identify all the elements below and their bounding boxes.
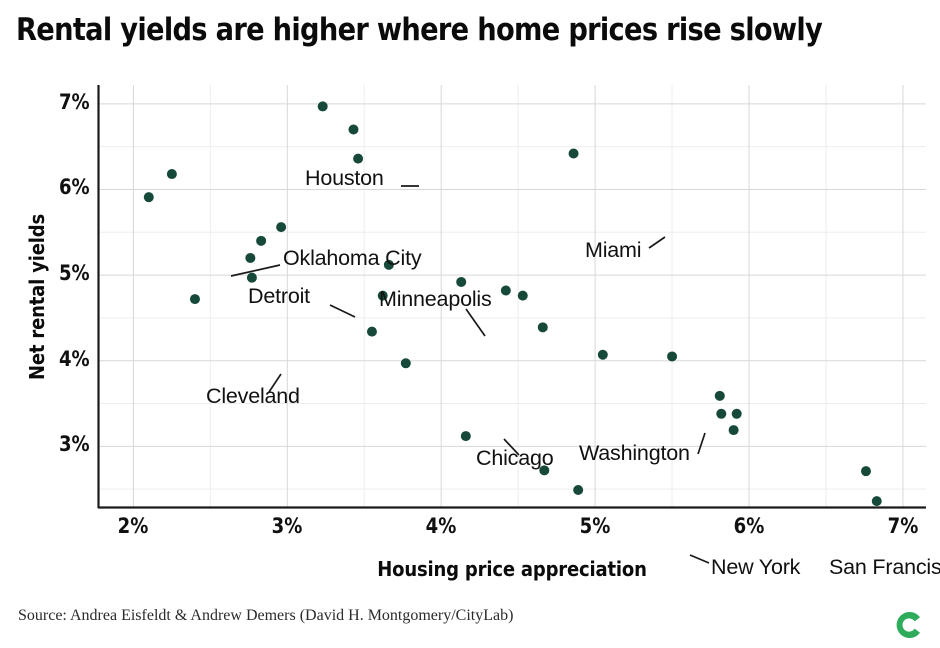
- data-point-miami: [569, 149, 579, 159]
- data-point-houston: [318, 101, 328, 111]
- point-label-minneapolis: Minneapolis: [379, 287, 492, 312]
- scatter-plot-svg: [98, 85, 926, 508]
- x-axis-tick-labels: 2%3%4%5%6%7%: [98, 514, 926, 544]
- data-point: [367, 327, 377, 337]
- y-tick-label: 6%: [59, 175, 90, 199]
- y-tick-label: 5%: [59, 261, 90, 285]
- x-tick-label: 6%: [734, 514, 765, 538]
- point-label-detroit: Detroit: [248, 284, 310, 309]
- data-point: [245, 253, 255, 263]
- point-label-new-york: New York: [711, 555, 800, 580]
- point-label-oklahoma-city: Oklahoma City: [283, 246, 421, 271]
- data-point-washington: [598, 350, 608, 360]
- y-tick-label: 7%: [59, 90, 90, 114]
- data-point-cleveland: [190, 294, 200, 304]
- data-point: [715, 391, 725, 401]
- citylab-c-logo: [890, 608, 924, 642]
- data-point: [538, 322, 548, 332]
- data-point: [501, 286, 511, 296]
- leader-line-minneapolis: [466, 309, 485, 336]
- leader-line-detroit: [330, 305, 355, 317]
- point-label-washington: Washington: [579, 441, 690, 466]
- data-point: [348, 125, 358, 135]
- data-point: [461, 431, 471, 441]
- data-point: [861, 466, 871, 476]
- leader-line-miami: [649, 237, 665, 248]
- x-tick-label: 2%: [118, 514, 149, 538]
- axis-spines: [98, 85, 926, 508]
- data-point-chicago: [401, 358, 411, 368]
- data-point: [667, 351, 677, 361]
- point-label-houston: Houston: [305, 166, 384, 191]
- x-tick-label: 4%: [426, 514, 457, 538]
- data-point: [353, 154, 363, 164]
- x-tick-label: 3%: [272, 514, 303, 538]
- y-tick-label: 3%: [59, 432, 90, 456]
- x-tick-label: 5%: [580, 514, 611, 538]
- data-point: [518, 291, 528, 301]
- point-label-cleveland: Cleveland: [206, 384, 300, 409]
- point-label-san-francisco: San Francisco: [829, 555, 940, 580]
- data-point: [167, 169, 177, 179]
- grid-minor-lines: [98, 85, 926, 508]
- source-note: Source: Andrea Eisfeldt & Andrew Demers …: [18, 607, 513, 625]
- data-point: [247, 273, 257, 283]
- x-tick-label: 7%: [888, 514, 919, 538]
- point-label-chicago: Chicago: [476, 446, 553, 471]
- chart-page: Rental yields are higher where home pric…: [0, 0, 940, 648]
- y-axis-title: Net rental yields: [25, 207, 49, 387]
- data-point: [732, 409, 742, 419]
- data-point: [716, 409, 726, 419]
- data-point-detroit: [256, 236, 266, 246]
- page-title: Rental yields are higher where home pric…: [16, 14, 817, 47]
- data-point-new-york: [573, 485, 583, 495]
- point-label-miami: Miami: [585, 238, 641, 263]
- data-point-oklahoma-city: [144, 192, 154, 202]
- grid-major-lines: [98, 85, 926, 508]
- data-point: [456, 277, 466, 287]
- scatter-plot-area: HoustonOklahoma CityDetroitMinneapolisCl…: [98, 85, 926, 508]
- y-tick-label: 4%: [59, 347, 90, 371]
- leader-line-washington: [698, 433, 705, 454]
- data-point: [729, 425, 739, 435]
- data-point-san-francisco: [872, 496, 882, 506]
- data-point-minneapolis: [276, 222, 286, 232]
